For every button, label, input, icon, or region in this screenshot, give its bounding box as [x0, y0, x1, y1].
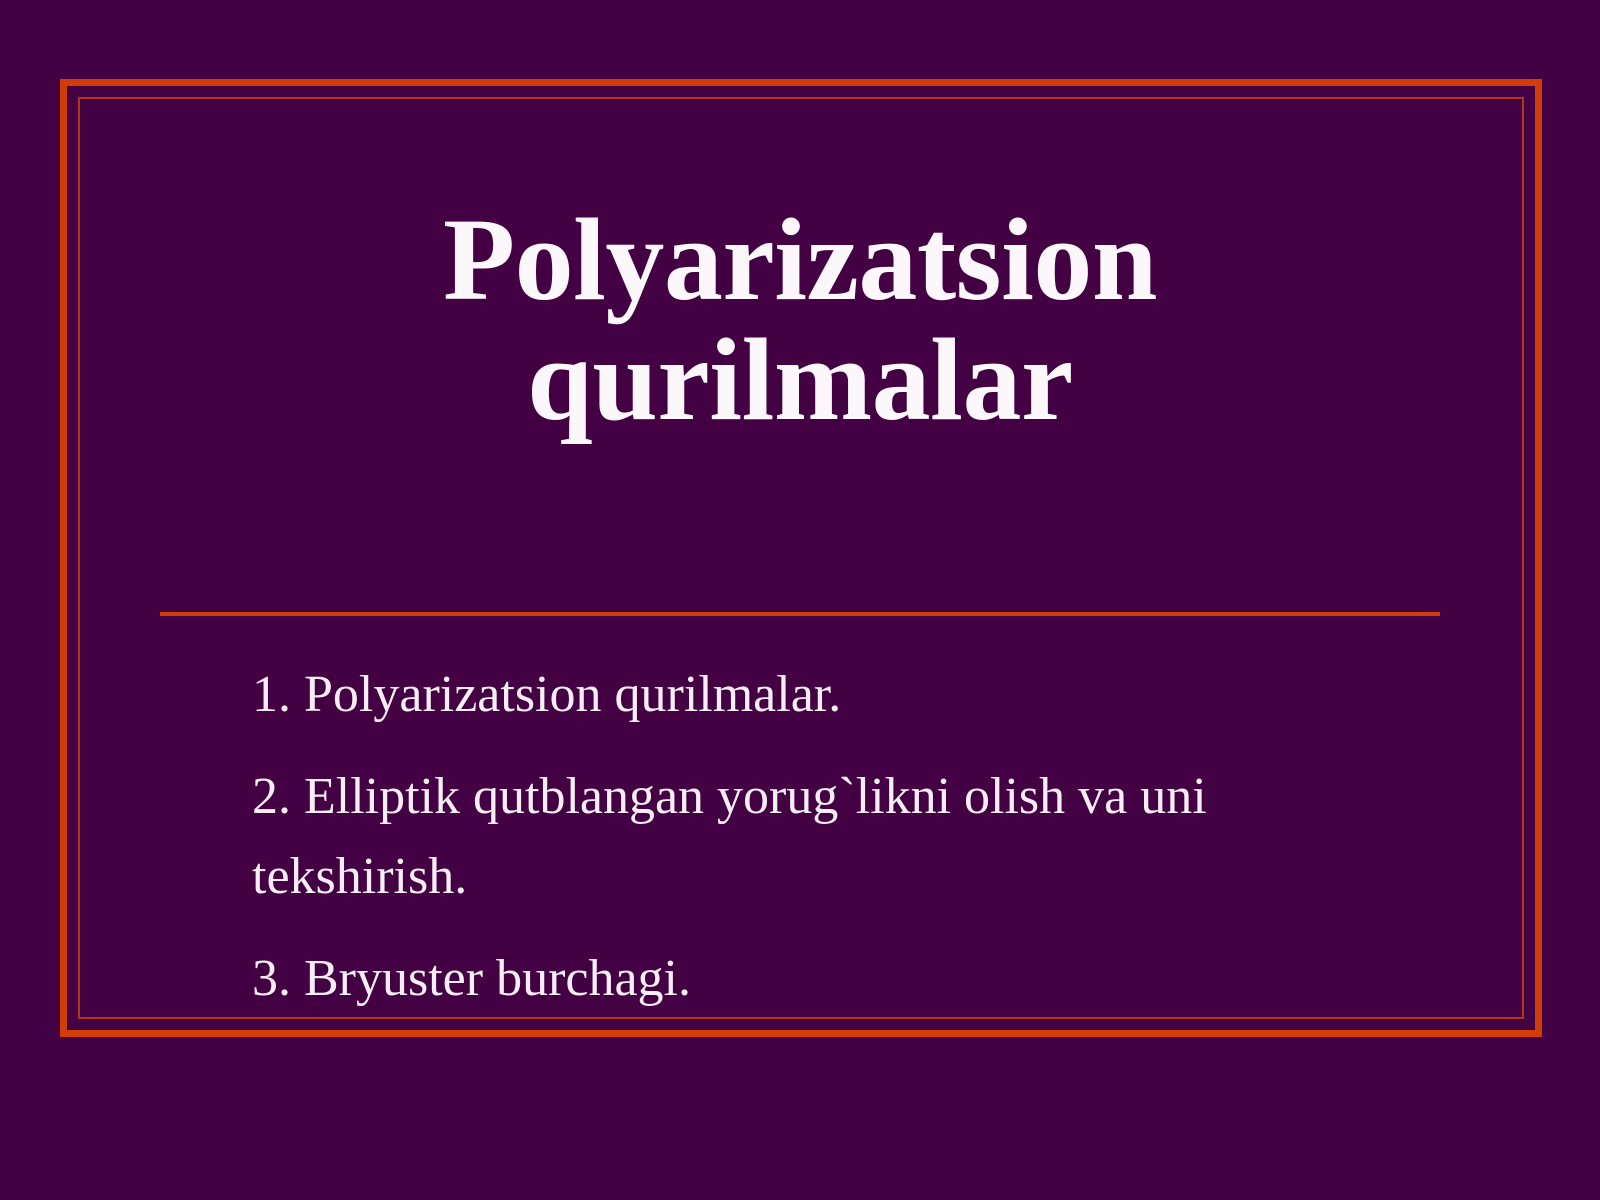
- agenda-item: 2. Elliptik qutblangan yorug`likni olish…: [252, 757, 1312, 917]
- agenda-item: 3. Bryuster burchagi.: [252, 939, 1312, 1019]
- agenda-item: 1. Polyarizatsion qurilmalar.: [252, 655, 1312, 735]
- slide-title: Polyarizatsion qurilmalar: [120, 200, 1480, 440]
- title-divider-rule: [160, 612, 1440, 616]
- slide-title-line-2: qurilmalar: [120, 320, 1480, 440]
- presentation-slide: Polyarizatsion qurilmalar 1. Polyarizats…: [0, 0, 1600, 1200]
- slide-title-line-1: Polyarizatsion: [120, 200, 1480, 320]
- agenda-list: 1. Polyarizatsion qurilmalar. 2. Ellipti…: [252, 655, 1312, 1019]
